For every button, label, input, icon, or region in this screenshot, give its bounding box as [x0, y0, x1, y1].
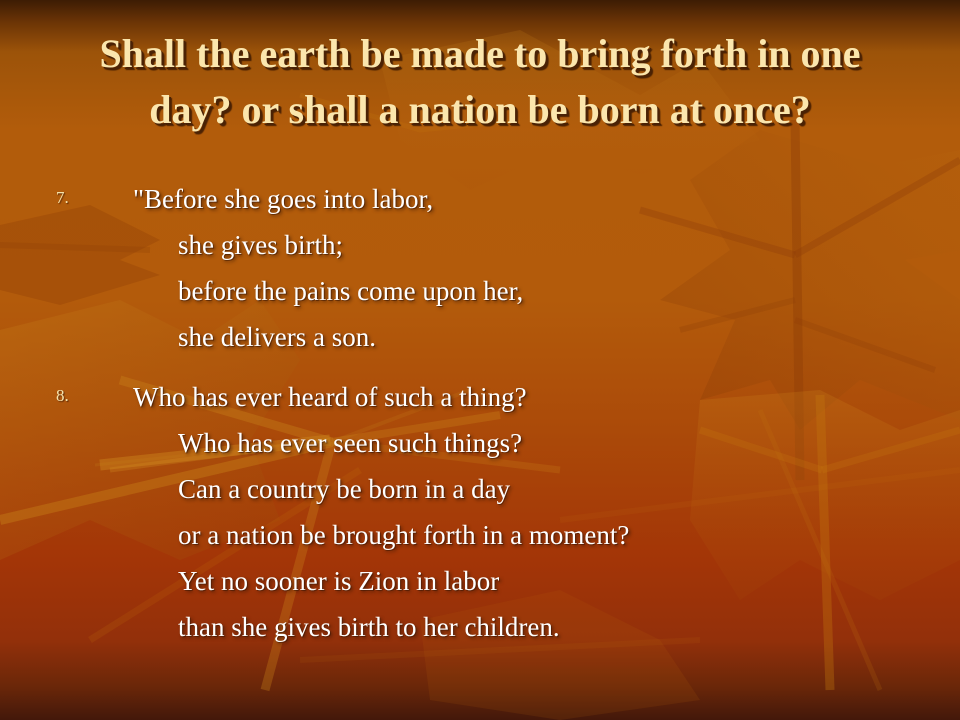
slide-title: Shall the earth be made to bring forth i…: [0, 26, 960, 138]
presentation-slide: Shall the earth be made to bring forth i…: [0, 0, 960, 720]
list-item: 8. Who has ever heard of such a thing? W…: [0, 374, 960, 650]
list-item-line: she gives birth;: [178, 222, 960, 268]
list-item-lines: Who has ever heard of such a thing? Who …: [0, 374, 960, 650]
list-item-line: than she gives birth to her children.: [178, 604, 960, 650]
list-item-line: Yet no sooner is Zion in labor: [178, 558, 960, 604]
list-item-line: she delivers a son.: [178, 314, 960, 360]
title-line-2: day? or shall a nation be born at once?: [0, 82, 960, 138]
list-item-marker: 8.: [56, 386, 96, 406]
list-item-marker: 7.: [56, 188, 96, 208]
title-line-1: Shall the earth be made to bring forth i…: [0, 26, 960, 82]
list-item-lines: "Before she goes into labor, she gives b…: [0, 176, 960, 360]
list-item-line: before the pains come upon her,: [178, 268, 960, 314]
list-item: 7. "Before she goes into labor, she give…: [0, 176, 960, 360]
list-item-line: "Before she goes into labor,: [133, 176, 960, 222]
list-item-line: Who has ever heard of such a thing?: [133, 374, 960, 420]
list-item-line: Who has ever seen such things?: [178, 420, 960, 466]
list-item-line: Can a country be born in a day: [178, 466, 960, 512]
slide-body: 7. "Before she goes into labor, she give…: [0, 176, 960, 664]
list-item-line: or a nation be brought forth in a moment…: [178, 512, 960, 558]
